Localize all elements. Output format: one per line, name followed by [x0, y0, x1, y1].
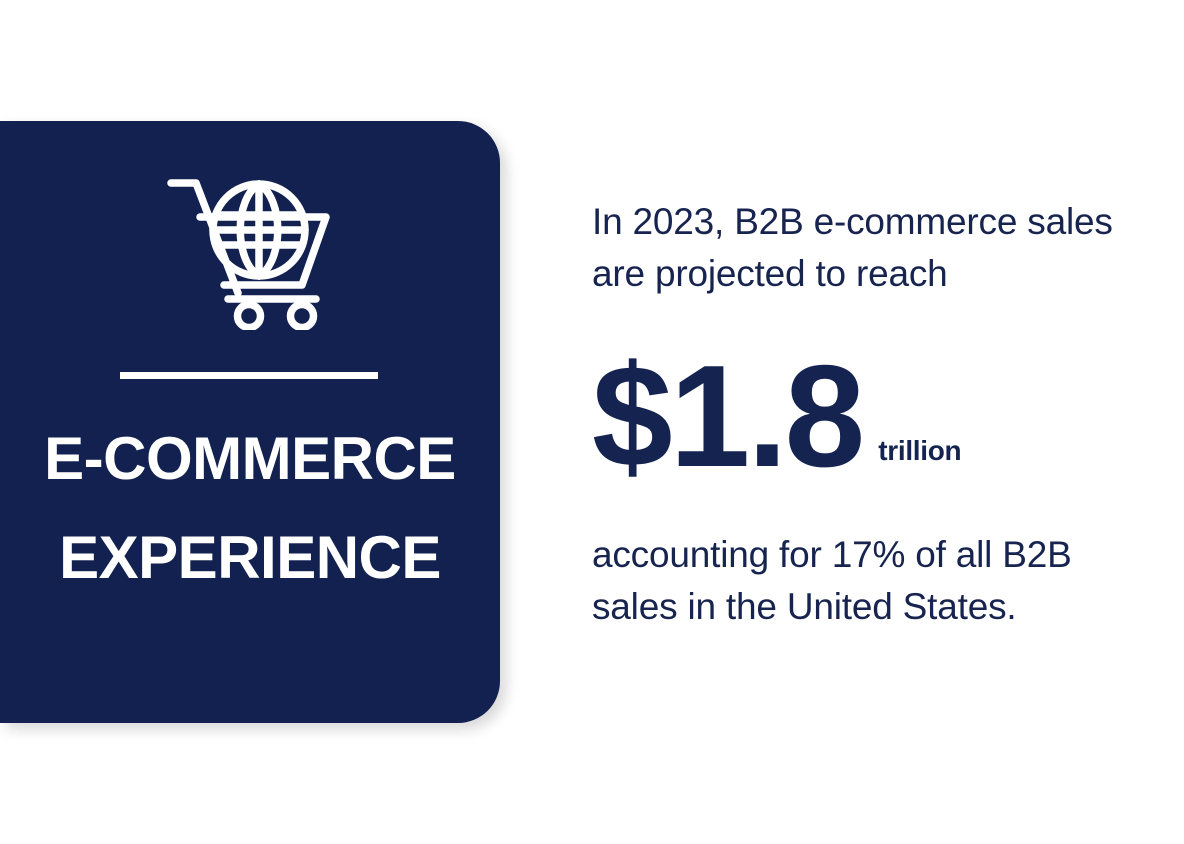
- ecommerce-feature-card: E-COMMERCE EXPERIENCE: [0, 121, 500, 723]
- stat-value: $1.8: [592, 344, 862, 489]
- card-title-line-2: EXPERIENCE: [0, 508, 500, 607]
- shopping-cart-globe-icon: [166, 175, 336, 330]
- card-title-line-1: E-COMMERCE: [0, 409, 500, 508]
- stat-figure: $1.8 trillion: [592, 344, 1152, 489]
- statistic-panel: In 2023, B2B e-commerce sales are projec…: [592, 196, 1152, 633]
- stat-trailer-text: accounting for 17% of all B2B sales in t…: [592, 529, 1152, 633]
- stat-lead-text: In 2023, B2B e-commerce sales are projec…: [592, 196, 1152, 300]
- page-title: E-COMMERCE EXPERIENCE: [0, 409, 500, 607]
- stat-unit: trillion: [878, 435, 961, 467]
- card-divider: [120, 372, 378, 379]
